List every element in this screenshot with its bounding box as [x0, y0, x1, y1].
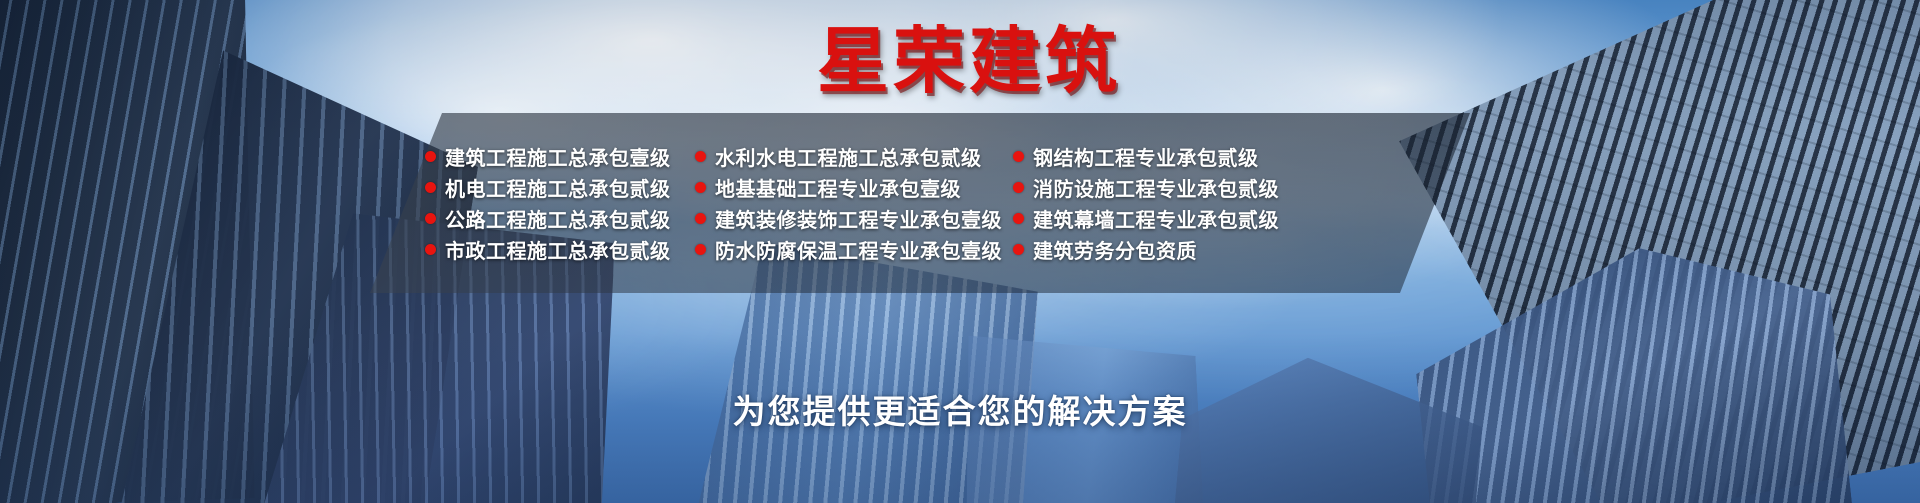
list-item: 市政工程施工总承包贰级: [425, 234, 670, 265]
title-container: 星荣建筑: [0, 26, 1920, 98]
qualification-label: 水利水电工程施工总承包贰级: [715, 142, 982, 171]
qualifications-columns: 建筑工程施工总承包壹级 机电工程施工总承包贰级 公路工程施工总承包贰级 市政工程…: [370, 113, 1470, 293]
list-item: 建筑装修装饰工程专业承包壹级: [695, 203, 1000, 234]
bullet-dot-icon: [425, 213, 436, 224]
bullet-dot-icon: [425, 151, 436, 162]
list-item: 机电工程施工总承包贰级: [425, 172, 670, 203]
list-item: 钢结构工程专业承包贰级: [1013, 141, 1330, 172]
bullet-dot-icon: [1013, 151, 1024, 162]
tagline-text: 为您提供更适合您的解决方案: [733, 385, 1188, 433]
bullet-dot-icon: [1013, 244, 1024, 255]
qualification-label: 建筑幕墙工程专业承包贰级: [1033, 204, 1279, 233]
company-title: 星荣建筑: [817, 26, 1121, 98]
bullet-dot-icon: [695, 244, 706, 255]
qualification-label: 防水防腐保温工程专业承包壹级: [715, 235, 1002, 264]
bullet-dot-icon: [1013, 182, 1024, 193]
qualification-label: 市政工程施工总承包贰级: [445, 235, 671, 264]
list-item: 建筑工程施工总承包壹级: [425, 141, 670, 172]
tagline-container: 为您提供更适合您的解决方案: [0, 385, 1920, 433]
qualification-label: 公路工程施工总承包贰级: [445, 204, 671, 233]
qualification-label: 建筑装修装饰工程专业承包壹级: [715, 204, 1002, 233]
list-item: 消防设施工程专业承包贰级: [1013, 172, 1330, 203]
list-item: 建筑幕墙工程专业承包贰级: [1013, 203, 1330, 234]
bullet-dot-icon: [425, 182, 436, 193]
bullet-dot-icon: [1013, 213, 1024, 224]
list-item: 公路工程施工总承包贰级: [425, 203, 670, 234]
list-item: 建筑劳务分包资质: [1013, 234, 1330, 265]
qualifications-column-3: 钢结构工程专业承包贰级 消防设施工程专业承包贰级 建筑幕墙工程专业承包贰级 建筑…: [1000, 141, 1330, 293]
qualification-label: 钢结构工程专业承包贰级: [1033, 142, 1259, 171]
qualification-label: 建筑劳务分包资质: [1033, 235, 1197, 264]
bullet-dot-icon: [425, 244, 436, 255]
list-item: 防水防腐保温工程专业承包壹级: [695, 234, 1000, 265]
company-hero-banner: 星荣建筑 建筑工程施工总承包壹级 机电工程施工总承包贰级 公路工程施工总承包贰级…: [0, 0, 1920, 503]
qualification-label: 建筑工程施工总承包壹级: [445, 142, 671, 171]
qualification-label: 地基基础工程专业承包壹级: [715, 173, 961, 202]
list-item: 地基基础工程专业承包壹级: [695, 172, 1000, 203]
qualifications-column-1: 建筑工程施工总承包壹级 机电工程施工总承包贰级 公路工程施工总承包贰级 市政工程…: [370, 141, 670, 293]
bullet-dot-icon: [695, 182, 706, 193]
list-item: 水利水电工程施工总承包贰级: [695, 141, 1000, 172]
qualifications-column-2: 水利水电工程施工总承包贰级 地基基础工程专业承包壹级 建筑装修装饰工程专业承包壹…: [670, 141, 1000, 293]
qualification-label: 消防设施工程专业承包贰级: [1033, 173, 1279, 202]
bullet-dot-icon: [695, 213, 706, 224]
qualification-label: 机电工程施工总承包贰级: [445, 173, 671, 202]
bullet-dot-icon: [695, 151, 706, 162]
